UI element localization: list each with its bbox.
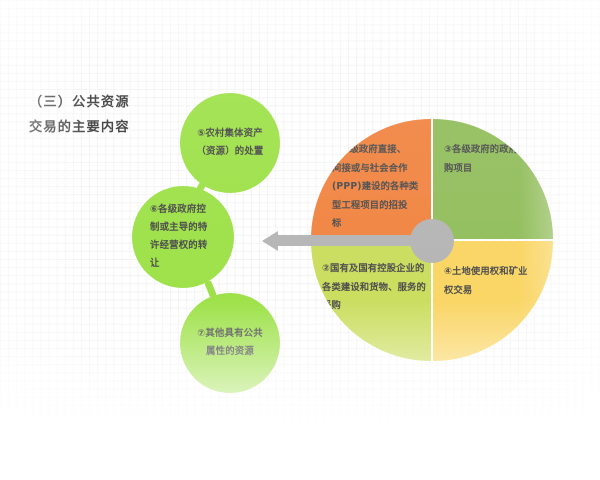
slide-canvas: （三）公共资源 交易的主要内容 ⑤农村集体资产 （资源）的处置 ⑥各级政府控 制… xyxy=(0,0,600,480)
quadrant-1-top-left[interactable]: ①各级政府直接、 间接或与社会合作 (PPP)建设的各种类 型工程项目的招投 标 xyxy=(311,119,431,239)
quadrant-4-bottom-right[interactable]: ④土地使用权和矿业 权交易 xyxy=(433,241,553,361)
bubble-item-6[interactable]: ⑥各级政府控 制或主导的特 许经营权的转 让 xyxy=(132,186,234,288)
arrow-shaft xyxy=(276,235,426,246)
pie-center-hub xyxy=(410,219,454,263)
quadrant-3-label: ③各级政府的政府采 购项目 xyxy=(444,141,544,178)
bubble-item-6-label: ⑥各级政府控 制或主导的特 许经营权的转 让 xyxy=(144,201,222,273)
quadrant-2-label: ②国有及国有控股企业的 各类建设和货物、服务的 采购 xyxy=(322,260,426,316)
bubble-item-7[interactable]: ⑦其他具有公共 属性的资源 xyxy=(180,293,280,393)
bubble-item-5-label: ⑤农村集体资产 （资源）的处置 xyxy=(187,125,273,161)
quadrant-3-top-right[interactable]: ③各级政府的政府采 购项目 xyxy=(433,119,553,239)
page-title: （三）公共资源 交易的主要内容 xyxy=(29,90,189,140)
quadrant-4-label: ④土地使用权和矿业 权交易 xyxy=(444,263,544,300)
bubble-item-5[interactable]: ⑤农村集体资产 （资源）的处置 xyxy=(180,93,280,193)
bubble-item-7-label: ⑦其他具有公共 属性的资源 xyxy=(188,325,272,361)
arrow-left-icon xyxy=(262,231,278,251)
quadrant-2-bottom-left[interactable]: ②国有及国有控股企业的 各类建设和货物、服务的 采购 xyxy=(311,241,431,361)
quadrant-1-label: ①各级政府直接、 间接或与社会合作 (PPP)建设的各种类 型工程项目的招投 标 xyxy=(332,141,428,234)
